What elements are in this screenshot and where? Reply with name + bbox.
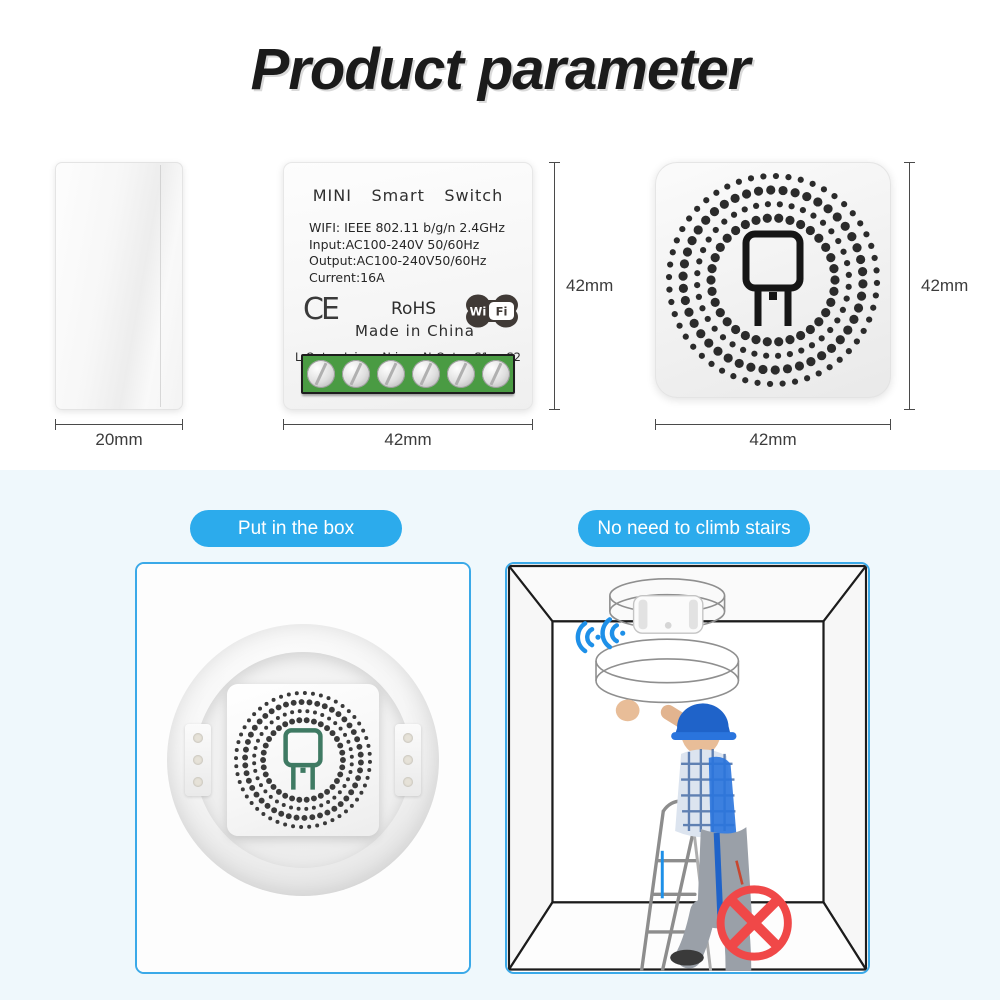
spec-list: WIFI: IEEE 802.11 b/g/n 2.4GHz Input:AC1… — [309, 220, 505, 286]
terminal-screw — [412, 360, 440, 388]
ce-mark-icon: CE — [303, 292, 337, 327]
terminal-screw — [307, 360, 335, 388]
product-heading: MINI Smart Switch — [283, 186, 533, 205]
mount-hole — [193, 733, 203, 743]
dimension-cap-right — [532, 419, 533, 430]
dimension-label-height: 42mm — [548, 162, 622, 410]
page-title: Product parameter — [0, 36, 1000, 103]
heading-smart: Smart — [371, 186, 424, 205]
dimension-cap-right — [890, 419, 891, 430]
mount-hole — [193, 777, 203, 787]
room-illustration — [507, 564, 868, 971]
scene-illustration-room — [505, 562, 870, 974]
product-front-view — [655, 162, 891, 398]
front-face-dot-pattern — [655, 162, 891, 398]
terminal-screw — [447, 360, 475, 388]
terminal-block — [301, 354, 515, 394]
junction-box-photo — [137, 564, 469, 972]
dimension-cap-bottom — [904, 409, 915, 410]
dimension-label: 42mm — [921, 276, 968, 296]
scene-badge-no-need-to-climb-stairs: No need to climb stairs — [578, 510, 810, 547]
dimension-bar — [909, 162, 910, 410]
spec-output: Output:AC100-240V50/60Hz — [309, 253, 505, 270]
junction-box-ear-right — [395, 724, 421, 796]
dimension-label: 42mm — [283, 430, 533, 450]
worker-shoe — [670, 950, 704, 966]
dimension-cap-right — [182, 419, 183, 430]
spec-input: Input:AC100-240V 50/60Hz — [309, 237, 505, 254]
heading-switch: Switch — [444, 186, 503, 205]
mount-hole — [403, 755, 413, 765]
dimension-label: 42mm — [566, 276, 613, 296]
heading-mini: MINI — [313, 186, 352, 205]
spec-current: Current:16A — [309, 270, 505, 287]
plug-icon-dot — [300, 768, 305, 773]
dimension-front-height: 42mm — [903, 162, 977, 410]
mount-hole — [403, 777, 413, 787]
mount-hole — [403, 733, 413, 743]
svg-text:Wi: Wi — [470, 305, 487, 319]
product-showcase-row: 20mm MINI Smart Switch WIFI: IEEE 802.11… — [0, 150, 1000, 450]
product-label-view: MINI Smart Switch WIFI: IEEE 802.11 b/g/… — [283, 162, 533, 410]
plug-icon — [286, 730, 321, 789]
junction-box-ear-left — [185, 724, 211, 796]
dimension-label: 20mm — [55, 430, 183, 450]
spec-wifi: WIFI: IEEE 802.11 b/g/n 2.4GHz — [309, 220, 505, 237]
scene-photo-junction-box — [135, 562, 471, 974]
dimension-bar — [655, 424, 891, 425]
dimension-bar — [55, 424, 183, 425]
dimension-front-width: 42mm — [655, 418, 891, 440]
scene-badge-put-in-the-box: Put in the box — [190, 510, 402, 547]
terminal-screw — [377, 360, 405, 388]
certification-marks: CE RoHS Made in China Wi Fi — [283, 290, 533, 352]
made-in-label: Made in China — [355, 322, 475, 340]
mount-hole — [193, 755, 203, 765]
plug-icon-dot — [769, 292, 777, 300]
terminal-screw — [342, 360, 370, 388]
svg-text:Fi: Fi — [496, 305, 508, 319]
module-face-dot-pattern — [227, 684, 379, 836]
junction-box-body — [167, 624, 439, 896]
dimension-label-width: 42mm — [283, 418, 533, 440]
dimension-label: 42mm — [655, 430, 891, 450]
product-parameter-section: Product parameter 20mm MINI Smart Switch… — [0, 0, 1000, 470]
plug-icon — [746, 234, 800, 326]
product-side-view — [55, 162, 183, 410]
dimension-bar — [283, 424, 533, 425]
dimension-cap-bottom — [549, 409, 560, 410]
worker-hand — [616, 700, 640, 722]
rohs-mark: RoHS — [391, 299, 436, 319]
dimension-side-width: 20mm — [55, 418, 183, 440]
wifi-logo-icon: Wi Fi — [463, 292, 521, 330]
usage-scenes-section: Put in the box No need to climb stairs — [0, 470, 1000, 1000]
smart-switch-module-face — [227, 684, 379, 836]
dimension-bar — [554, 162, 555, 410]
smart-switch-module-ceiling — [634, 596, 703, 634]
terminal-screw — [482, 360, 510, 388]
